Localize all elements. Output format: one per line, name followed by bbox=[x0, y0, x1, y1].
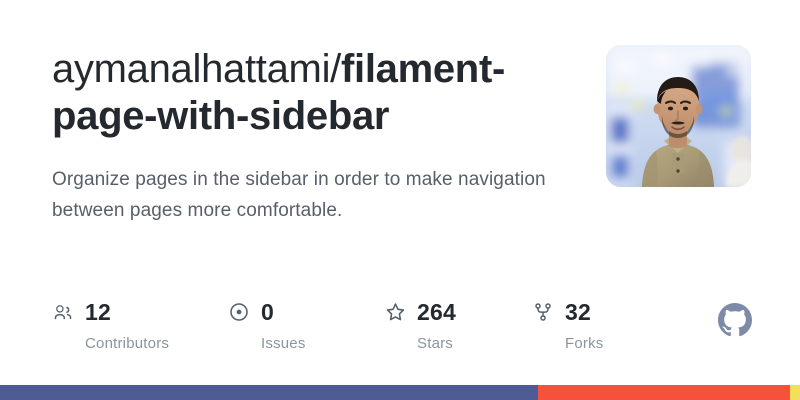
issue-opened-icon bbox=[228, 301, 250, 323]
stat-contributors: 12 Contributors bbox=[52, 298, 180, 352]
stat-issues-label: Issues bbox=[261, 335, 336, 352]
stat-stars: 264 Stars bbox=[384, 298, 484, 352]
stat-forks-label: Forks bbox=[565, 335, 604, 352]
repo-description: Organize pages in the sidebar in order t… bbox=[52, 164, 552, 226]
repo-stats: 12 Contributors 0 Issues bbox=[52, 298, 604, 352]
star-icon bbox=[384, 301, 406, 323]
repo-forked-icon bbox=[532, 301, 554, 323]
stat-issues-top: 0 bbox=[228, 298, 336, 326]
stat-forks-value: 32 bbox=[565, 301, 591, 324]
stat-contributors-label: Contributors bbox=[85, 335, 180, 352]
stat-forks-top: 32 bbox=[532, 298, 604, 326]
github-mark-icon bbox=[718, 303, 752, 337]
stat-stars-top: 264 bbox=[384, 298, 484, 326]
language-segment-blade bbox=[0, 385, 538, 400]
stat-contributors-value: 12 bbox=[85, 301, 111, 324]
stat-forks: 32 Forks bbox=[532, 298, 604, 352]
owner-avatar bbox=[606, 45, 751, 187]
people-icon bbox=[52, 301, 74, 323]
page-title: aymanalhattami/filament-page-with-sideba… bbox=[52, 46, 572, 140]
language-bar bbox=[0, 385, 800, 400]
repo-separator: / bbox=[330, 47, 341, 91]
stat-stars-value: 264 bbox=[417, 301, 456, 324]
repo-social-card: aymanalhattami/filament-page-with-sideba… bbox=[0, 0, 800, 400]
stat-issues-value: 0 bbox=[261, 301, 274, 324]
stat-contributors-top: 12 bbox=[52, 298, 180, 326]
stat-issues: 0 Issues bbox=[228, 298, 336, 352]
stat-stars-label: Stars bbox=[417, 335, 484, 352]
language-segment-javascript bbox=[790, 385, 800, 400]
language-segment-php bbox=[538, 385, 790, 400]
repo-owner: aymanalhattami bbox=[52, 47, 330, 91]
